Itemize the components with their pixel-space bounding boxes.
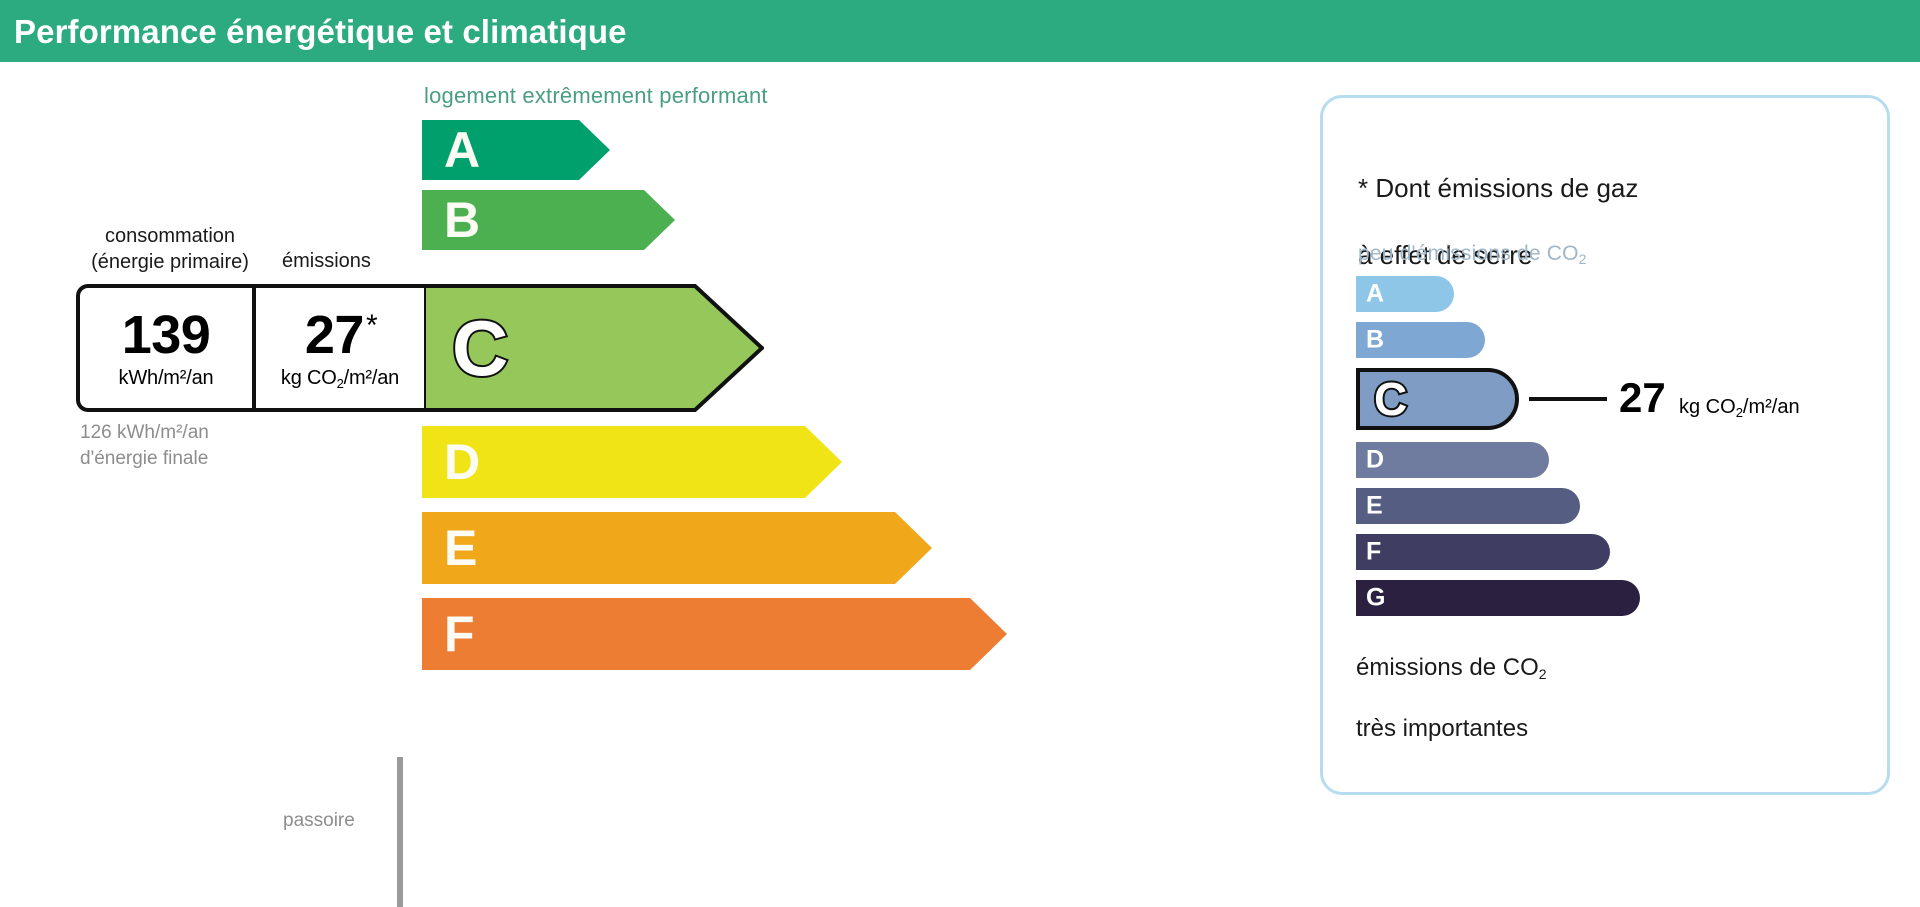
- energy-class-bar-e: E: [422, 512, 932, 584]
- energy-class-bar-a: A: [422, 120, 610, 180]
- energy-class-arrow-b: [422, 190, 675, 250]
- energy-class-arrow-c: [422, 284, 764, 412]
- co2-emission-unit: kg CO2/m²/an: [281, 367, 399, 390]
- co2-panel-title-line1: * Dont émissions de gaz: [1358, 172, 1638, 206]
- energy-class-bar-b: B: [422, 190, 675, 250]
- energy-class-arrow-f: [422, 598, 1007, 670]
- emissions-label: émissions: [282, 248, 371, 274]
- co2-class-bar-e: E: [1356, 488, 1580, 524]
- final-energy-value: 126 kWh/m²/an: [80, 420, 209, 446]
- co2-class-letter-d: D: [1366, 448, 1384, 473]
- primary-energy-unit: kWh/m²/an: [119, 367, 214, 390]
- energy-value-box: 139 kWh/m²/an 27* kg CO2/m²/an: [76, 284, 424, 412]
- energy-class-arrow-d: [422, 426, 842, 498]
- co2-scale-bars: ABCDEFG: [1356, 276, 1856, 606]
- co2-class-bar-d: D: [1356, 442, 1549, 478]
- co2-footer-line2: très importantes: [1356, 714, 1547, 745]
- co2-class-bar-g: G: [1356, 580, 1640, 616]
- primary-energy-value: 139: [122, 310, 211, 361]
- consommation-label-line2: (énergie primaire): [80, 249, 260, 275]
- consommation-label-line1: consommation: [80, 223, 260, 249]
- co2-emission-cell: 27* kg CO2/m²/an: [252, 288, 424, 408]
- co2-footer-line1: émissions de CO2: [1356, 653, 1547, 684]
- energy-class-bar-f: F: [422, 598, 1007, 670]
- co2-class-bar-f: F: [1356, 534, 1610, 570]
- energy-performance-section: logement extrêmement performant ABCDEF 1…: [0, 62, 1290, 783]
- passoire-marker-bar: [397, 757, 403, 907]
- co2-callout-value: 27: [1619, 377, 1666, 419]
- final-energy-note: 126 kWh/m²/an d'énergie finale: [80, 420, 209, 471]
- co2-emission-number: 27: [305, 305, 364, 365]
- co2-scale-bottom-caption: émissions de CO2 très importantes: [1356, 622, 1547, 776]
- co2-class-letter-b: B: [1366, 328, 1384, 353]
- passoire-label: passoire: [283, 810, 355, 832]
- co2-footnote-star: *: [366, 309, 377, 342]
- co2-callout-unit: kg CO2/m²/an: [1679, 397, 1800, 417]
- page-header-banner: Performance énergétique et climatique: [0, 0, 1920, 62]
- co2-class-bar-b: B: [1356, 322, 1485, 358]
- co2-emission-value: 27*: [305, 310, 375, 361]
- final-energy-caption: d'énergie finale: [80, 446, 209, 472]
- co2-class-letter-e: E: [1366, 494, 1383, 519]
- co2-class-letter-g: G: [1366, 586, 1385, 611]
- co2-class-bar-a: A: [1356, 276, 1454, 312]
- energy-class-arrow-e: [422, 512, 932, 584]
- energy-class-bar-c: C: [422, 284, 764, 412]
- primary-energy-cell: 139 kWh/m²/an: [80, 288, 252, 408]
- energy-class-arrow-a: [422, 120, 610, 180]
- energy-class-bar-d: D: [422, 426, 842, 498]
- consommation-label: consommation (énergie primaire): [80, 223, 260, 275]
- co2-class-letter-f: F: [1366, 540, 1381, 565]
- co2-callout-leader-line: [1529, 397, 1607, 401]
- page-title: Performance énergétique et climatique: [0, 15, 627, 48]
- co2-class-bar-c: C: [1356, 368, 1519, 430]
- co2-class-letter-a: A: [1366, 282, 1384, 307]
- co2-class-letter-c: C: [1374, 376, 1407, 422]
- co2-emissions-panel: * Dont émissions de gaz à effet de serre…: [1320, 95, 1890, 795]
- dpe-canvas: logement extrêmement performant ABCDEF 1…: [0, 62, 1920, 783]
- co2-scale-top-caption: peu d'émissions de CO2: [1358, 242, 1587, 266]
